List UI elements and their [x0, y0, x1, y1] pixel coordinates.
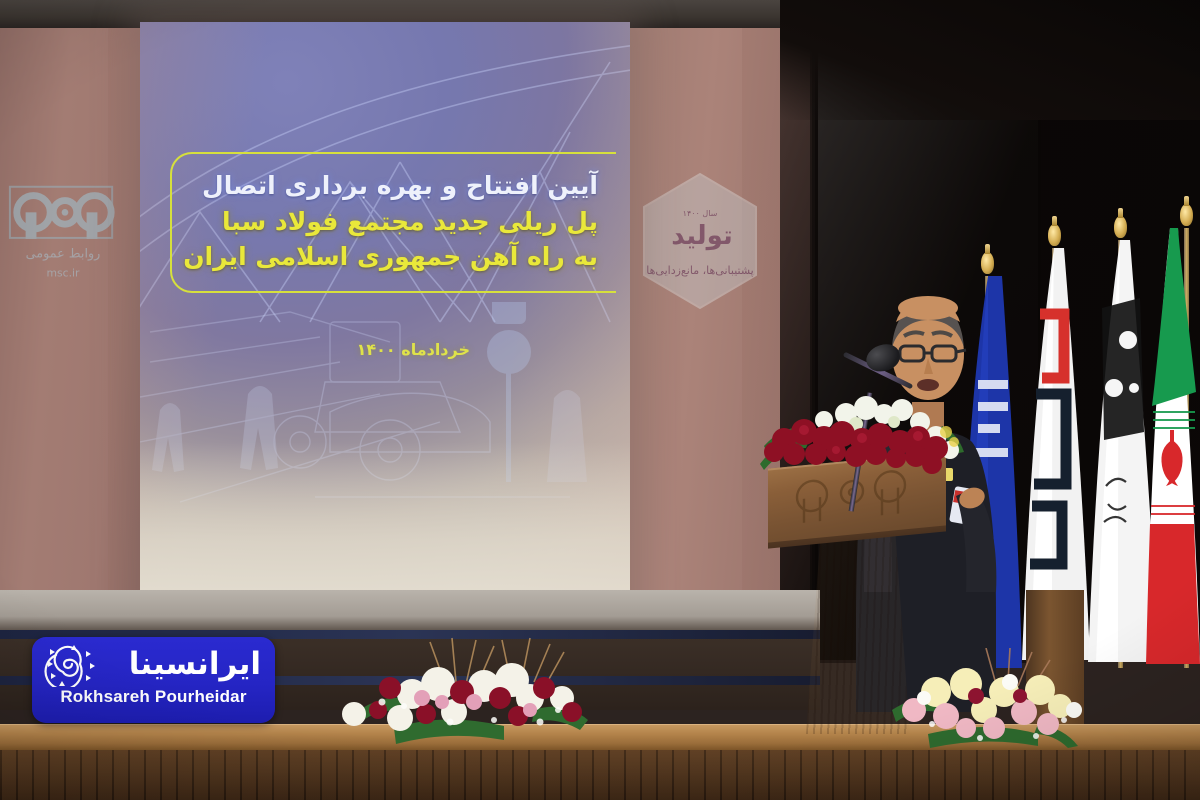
slide-date: خردادماه ۱۴۰۰: [357, 340, 470, 359]
hexagon-slogan-line-1: تولید: [671, 221, 732, 251]
slide-headline-line-3: به راه آهن جمهوری اسلامی ایران: [190, 239, 598, 275]
news-photo: روابط عمومی msc.ir سال ۱۴۰۰ تولید پشتیبا…: [0, 0, 1200, 800]
photographer-credit: Rokhsareh Pourheidar: [32, 687, 275, 707]
hexagon-slogan-line-2: پشتیبانی‌ها، مانع‌زدایی‌ها: [646, 264, 753, 277]
flag-finial-blue: [981, 252, 994, 274]
flag-finial-white-2: [1114, 216, 1127, 238]
watermark-logo-row: ایرانسینا: [32, 639, 275, 689]
stage-right-bouquet: [888, 648, 1120, 748]
flag-finial-iran: [1180, 204, 1193, 226]
projection-screen: آیین افتتاح و بهره برداری اتصال پل ریلی …: [140, 22, 630, 622]
stage-front-slats: [0, 750, 1200, 800]
podium-red-rose-bouquet: [760, 392, 970, 482]
dark-ceiling-corner: [780, 0, 1200, 120]
isna-spiral-icon: [42, 641, 100, 687]
hexagon-year-slogan: سال ۱۴۰۰ تولید پشتیبانی‌ها، مانع‌زدایی‌ه…: [636, 170, 764, 312]
hexagon-year-label: سال ۱۴۰۰: [683, 209, 718, 218]
stage-left-bouquet: [334, 636, 614, 744]
flag-iran-national: [1140, 224, 1200, 668]
slide-headline-line-2: پل ریلی جدید مجتمع فولاد سبا: [190, 204, 598, 240]
msc-wall-logo-website: msc.ir: [47, 266, 81, 279]
msc-wall-logo-subtitle: روابط عمومی: [26, 247, 101, 262]
flag-finial-white-1: [1048, 224, 1061, 246]
msc-wall-logo: روابط عمومی msc.ir: [4, 172, 122, 292]
slide-headline-box: آیین افتتاح و بهره برداری اتصال پل ریلی …: [170, 152, 616, 293]
isna-wordmark: ایرانسینا: [100, 649, 275, 680]
isna-watermark: ایرانسینا Rokhsareh Pourheidar: [32, 637, 275, 723]
slide-headline-line-1: آیین افتتاح و بهره برداری اتصال: [190, 168, 598, 204]
